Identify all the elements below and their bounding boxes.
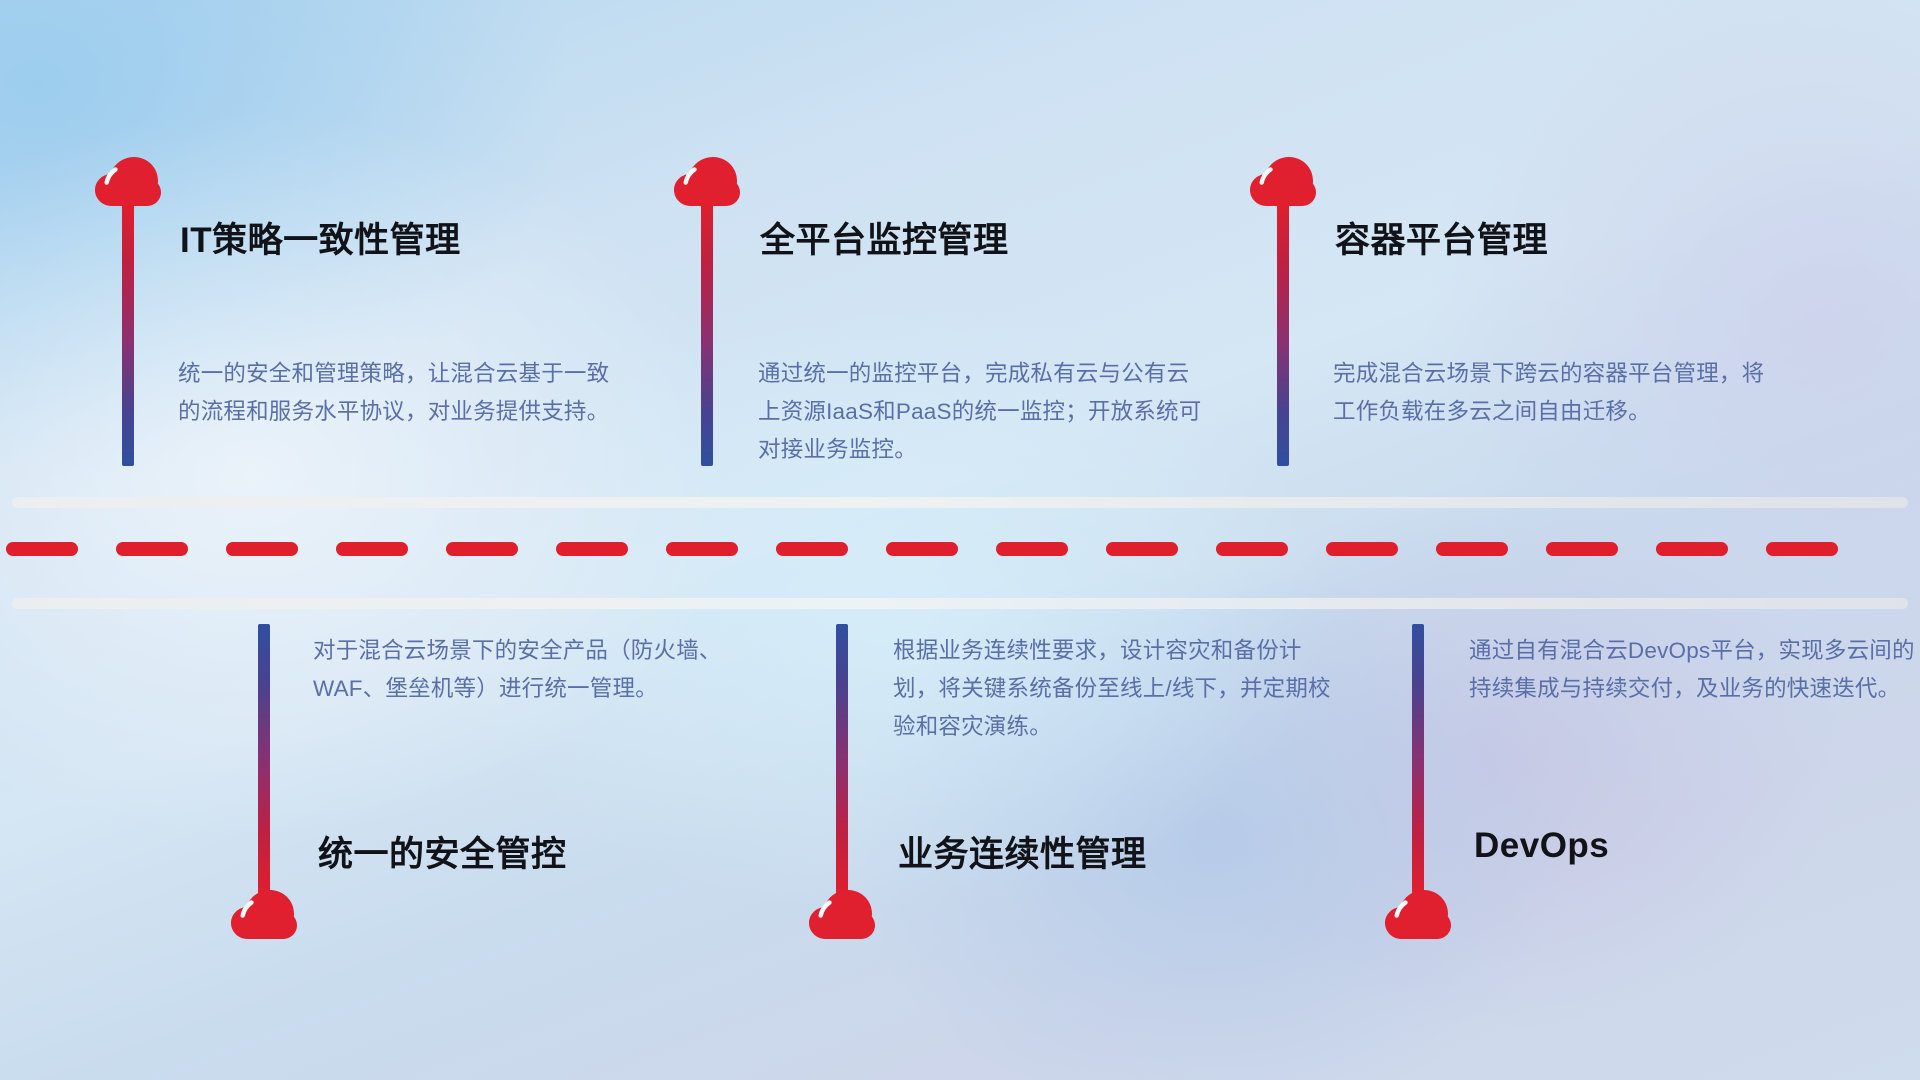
bottom-column-2-body: 根据业务连续性要求，设计容灾和备份计划，将关键系统备份至线上/线下，并定期校验和… xyxy=(893,632,1343,746)
divider-dash xyxy=(996,542,1068,556)
divider-dash xyxy=(6,542,78,556)
timeline-pin-bar xyxy=(1412,624,1424,894)
cloud-icon xyxy=(1250,157,1316,207)
divider-dash xyxy=(1546,542,1618,556)
divider-dash xyxy=(776,542,848,556)
timeline-pin-bar xyxy=(1277,204,1289,466)
cloud-icon xyxy=(674,157,740,207)
divider-dash xyxy=(226,542,298,556)
cloud-icon xyxy=(1385,890,1451,940)
divider-dash xyxy=(1436,542,1508,556)
divider-dash xyxy=(446,542,518,556)
bottom-column-3-body: 通过自有混合云DevOps平台，实现多云间的持续集成与持续交付，及业务的快速迭代… xyxy=(1469,632,1919,708)
timeline-pin-bar xyxy=(122,204,134,466)
cloud-icon xyxy=(809,890,875,940)
divider-dash xyxy=(666,542,738,556)
timeline-pin-bar xyxy=(836,624,848,894)
divider-dash xyxy=(1656,542,1728,556)
bottom-column-1-title: 统一的安全管控 xyxy=(318,826,567,877)
divider-dash xyxy=(886,542,958,556)
divider-dash xyxy=(1766,542,1838,556)
bottom-column-2-title: 业务连续性管理 xyxy=(898,826,1147,877)
timeline-pin-bar xyxy=(701,204,713,466)
cloud-icon xyxy=(231,890,297,940)
divider-band-top xyxy=(12,497,1908,508)
top-column-3-title: 容器平台管理 xyxy=(1335,212,1548,263)
top-column-2-title: 全平台监控管理 xyxy=(760,212,1009,263)
bottom-column-3-title: DevOps xyxy=(1474,826,1609,866)
cloud-icon xyxy=(95,157,161,207)
top-column-1-title: IT策略一致性管理 xyxy=(180,212,461,263)
bottom-column-1-body: 对于混合云场景下的安全产品（防火墙、WAF、堡垒机等）进行统一管理。 xyxy=(313,632,763,708)
divider-dash xyxy=(336,542,408,556)
top-column-3-body: 完成混合云场景下跨云的容器平台管理，将工作负载在多云之间自由迁移。 xyxy=(1333,355,1783,431)
divider-dashed-line xyxy=(0,542,1920,556)
divider-dash xyxy=(556,542,628,556)
infographic-canvas: IT策略一致性管理 统一的安全和管理策略，让混合云基于一致的流程和服务水平协议，… xyxy=(0,0,1920,1080)
timeline-pin-bar xyxy=(258,624,270,894)
divider-dash xyxy=(116,542,188,556)
top-column-1-body: 统一的安全和管理策略，让混合云基于一致的流程和服务水平协议，对业务提供支持。 xyxy=(178,355,628,431)
divider-dash xyxy=(1106,542,1178,556)
divider-band-bottom xyxy=(12,598,1908,609)
divider-dash xyxy=(1326,542,1398,556)
top-column-2-body: 通过统一的监控平台，完成私有云与公有云上资源IaaS和PaaS的统一监控；开放系… xyxy=(758,355,1208,469)
divider-dash xyxy=(1216,542,1288,556)
